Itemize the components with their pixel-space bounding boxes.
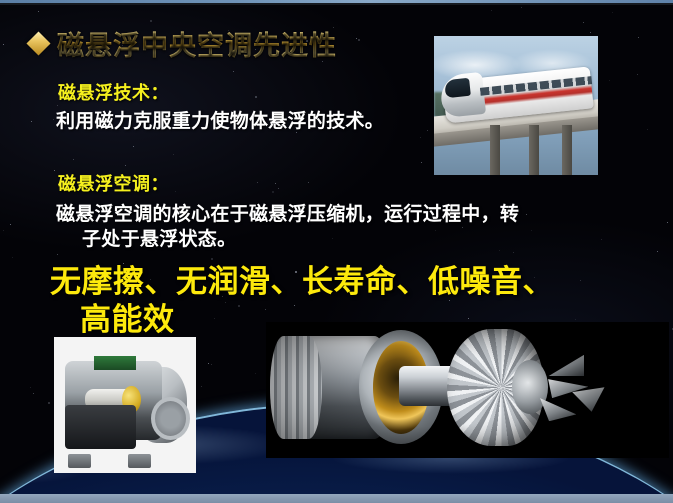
compressor-foot-right	[128, 454, 151, 468]
slide-title: 磁悬浮中央空调先进性	[30, 24, 337, 63]
maglev-train-photo	[434, 36, 598, 175]
highlight-line-2: 高能效	[80, 294, 175, 339]
diamond-bullet-icon	[26, 31, 50, 55]
slide-canvas: 磁悬浮中央空调先进性 磁悬浮技术： 利用磁力克服重力使物体悬浮的技术。 磁悬浮空…	[0, 0, 673, 503]
magnetic-bearing-rotor-render	[266, 322, 669, 458]
slide-title-text: 磁悬浮中央空调先进性	[57, 24, 337, 63]
train-photo-pier-1	[490, 125, 500, 175]
rotor-vignette	[266, 322, 669, 458]
bottom-frame-bar	[0, 494, 673, 503]
section-body-maglev-hvac-line-2: 子处于悬浮状态。	[82, 224, 236, 251]
section-body-maglev-hvac-line-1: 磁悬浮空调的核心在于磁悬浮压缩机，运行过程中，转	[56, 199, 519, 226]
section-heading-maglev-tech: 磁悬浮技术：	[58, 79, 169, 105]
compressor-cutaway-photo	[54, 337, 196, 473]
compressor-inlet-ring	[151, 397, 190, 440]
section-heading-maglev-hvac: 磁悬浮空调：	[58, 170, 169, 196]
compressor-control-board	[94, 356, 137, 370]
top-frame-shadow	[0, 3, 673, 5]
train-photo-pier-2	[529, 125, 539, 175]
compressor-foot-left	[68, 454, 91, 468]
section-body-maglev-tech-line-1: 利用磁力克服重力使物体悬浮的技术。	[56, 106, 384, 133]
train-photo-pier-3	[562, 125, 572, 175]
train-photo-windshield	[445, 78, 471, 99]
compressor-oil-sump	[65, 405, 136, 449]
